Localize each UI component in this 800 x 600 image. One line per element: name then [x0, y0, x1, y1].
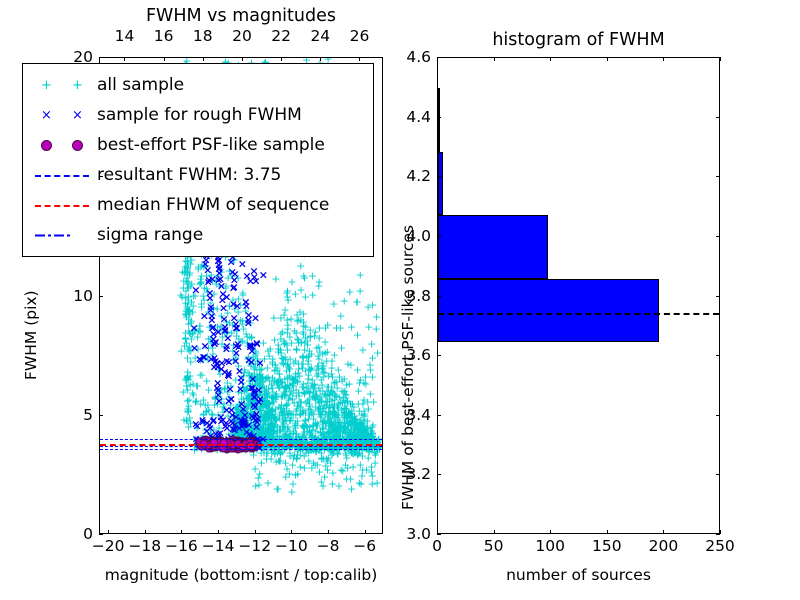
all-sample-marker: + [251, 463, 260, 474]
all-sample-marker: + [194, 326, 203, 337]
all-sample-marker: + [248, 390, 257, 401]
all-sample-marker: + [336, 397, 345, 408]
all-sample-marker: + [182, 338, 191, 349]
all-sample-marker: + [288, 378, 297, 389]
all-sample-marker: + [298, 408, 307, 419]
all-sample-marker: + [358, 422, 367, 433]
all-sample-marker: + [276, 406, 285, 417]
all-sample-marker: + [298, 350, 307, 361]
all-sample-marker: + [346, 398, 355, 409]
all-sample-marker: + [262, 414, 271, 425]
all-sample-marker: + [311, 401, 320, 412]
all-sample-marker: + [283, 372, 292, 383]
all-sample-marker: + [341, 404, 350, 415]
all-sample-marker: + [357, 425, 366, 436]
all-sample-marker: + [321, 322, 330, 333]
all-sample-marker: + [273, 484, 282, 495]
hist-x-tick-label: 200 [649, 537, 679, 555]
all-sample-marker: + [186, 357, 195, 368]
circle-icon [41, 140, 52, 151]
all-sample-marker: + [182, 374, 191, 385]
all-sample-marker: + [279, 358, 288, 369]
all-sample-marker: + [354, 399, 363, 410]
all-sample-marker: + [231, 351, 240, 362]
all-sample-marker: + [195, 326, 204, 337]
all-sample-marker: + [321, 337, 330, 348]
all-sample-marker: + [240, 385, 249, 396]
x-tick-label: −20 [92, 537, 125, 555]
all-sample-marker: + [330, 401, 339, 412]
all-sample-marker: + [211, 392, 220, 403]
all-sample-marker: + [339, 420, 348, 431]
all-sample-marker: + [294, 397, 303, 408]
rough-fwhm-marker: × [246, 339, 255, 350]
rough-fwhm-marker: × [252, 409, 261, 420]
all-sample-marker: + [279, 386, 288, 397]
all-sample-marker: + [363, 423, 372, 434]
all-sample-marker: + [195, 279, 204, 290]
all-sample-marker: + [289, 388, 298, 399]
hist-y-tick-mark-right [716, 236, 720, 237]
all-sample-marker: + [266, 413, 275, 424]
all-sample-marker: + [183, 256, 192, 267]
all-sample-marker: + [252, 364, 261, 375]
legend-item-label: sample for rough FWHM [93, 105, 302, 125]
rough-fwhm-marker: × [229, 298, 238, 309]
rough-fwhm-marker: × [227, 415, 236, 426]
all-sample-marker: + [249, 450, 258, 461]
all-sample-marker: + [259, 431, 268, 442]
all-sample-marker: + [368, 470, 377, 481]
all-sample-marker: + [306, 405, 315, 416]
all-sample-marker: + [280, 383, 289, 394]
all-sample-marker: + [349, 419, 358, 430]
all-sample-marker: + [290, 421, 299, 432]
all-sample-marker: + [324, 370, 333, 381]
all-sample-marker: + [247, 394, 256, 405]
all-sample-marker: + [281, 401, 290, 412]
all-sample-marker: + [368, 431, 377, 442]
all-sample-marker: + [275, 456, 284, 467]
all-sample-marker: + [334, 409, 343, 420]
rough-fwhm-marker: × [250, 386, 259, 397]
all-sample-marker: + [352, 431, 361, 442]
all-sample-marker: + [291, 422, 300, 433]
x-tick-label: −6 [353, 537, 376, 555]
all-sample-marker: + [261, 373, 270, 384]
all-sample-marker: + [326, 386, 335, 397]
all-sample-marker: + [339, 423, 348, 434]
all-sample-marker: + [203, 350, 212, 361]
left-panel-title: FWHM vs magnitudes [99, 6, 383, 26]
rough-fwhm-marker: × [219, 313, 228, 324]
all-sample-marker: + [253, 413, 262, 424]
rough-fwhm-marker: × [226, 431, 235, 442]
all-sample-marker: + [310, 330, 319, 341]
all-sample-marker: + [194, 262, 203, 273]
all-sample-marker: + [339, 407, 348, 418]
all-sample-marker: + [256, 422, 265, 433]
x-tick-label: −12 [238, 537, 271, 555]
rough-fwhm-marker: × [240, 419, 249, 430]
all-sample-marker: + [252, 382, 261, 393]
all-sample-marker: + [216, 388, 225, 399]
all-sample-marker: + [293, 469, 302, 480]
all-sample-marker: + [228, 295, 237, 306]
all-sample-marker: + [301, 291, 310, 302]
all-sample-marker: + [368, 478, 377, 489]
all-sample-marker: + [300, 463, 309, 474]
all-sample-marker: + [282, 384, 291, 395]
rough-fwhm-marker: × [213, 378, 222, 389]
all-sample-marker: + [273, 377, 282, 388]
all-sample-marker: + [232, 421, 241, 432]
all-sample-marker: + [350, 419, 359, 430]
all-sample-marker: + [247, 370, 256, 381]
x-tick-label-top: 20 [232, 27, 252, 45]
rough-fwhm-marker: × [230, 269, 239, 280]
all-sample-marker: + [360, 424, 369, 435]
all-sample-marker: + [325, 421, 334, 432]
all-sample-marker: + [291, 419, 300, 430]
all-sample-marker: + [184, 306, 193, 317]
all-sample-marker: + [252, 388, 261, 399]
all-sample-marker: + [367, 461, 376, 472]
all-sample-marker: + [240, 420, 249, 431]
all-sample-marker: + [266, 432, 275, 443]
rough-fwhm-marker: × [230, 419, 239, 430]
all-sample-marker: + [324, 452, 333, 463]
all-sample-marker: + [340, 397, 349, 408]
rough-fwhm-marker: × [217, 357, 226, 368]
all-sample-marker: + [265, 398, 274, 409]
all-sample-marker: + [230, 432, 239, 443]
dashed-line-icon [35, 205, 89, 207]
all-sample-marker: + [236, 412, 245, 423]
histogram-bar [438, 215, 548, 279]
all-sample-marker: + [243, 404, 252, 415]
all-sample-marker: + [257, 388, 266, 399]
all-sample-marker: + [293, 415, 302, 426]
all-sample-marker: + [312, 343, 321, 354]
all-sample-marker: + [259, 428, 268, 439]
all-sample-marker: + [256, 369, 265, 380]
all-sample-marker: + [183, 385, 192, 396]
all-sample-marker: + [296, 409, 305, 420]
rough-fwhm-marker: × [199, 351, 208, 362]
all-sample-marker: + [186, 329, 195, 340]
all-sample-marker: + [237, 422, 246, 433]
all-sample-marker: + [351, 418, 360, 429]
rough-fwhm-marker: × [211, 355, 220, 366]
all-sample-marker: + [238, 428, 247, 439]
all-sample-marker: + [274, 445, 283, 456]
all-sample-marker: + [257, 427, 266, 438]
all-sample-marker: + [259, 380, 268, 391]
all-sample-marker: + [270, 334, 279, 345]
all-sample-marker: + [223, 377, 232, 388]
all-sample-marker: + [328, 389, 337, 400]
all-sample-marker: + [191, 324, 200, 335]
rough-fwhm-marker: × [242, 270, 251, 281]
rough-fwhm-marker: × [237, 399, 246, 410]
all-sample-marker: + [305, 387, 314, 398]
all-sample-marker: + [236, 423, 245, 434]
all-sample-marker: + [299, 381, 308, 392]
all-sample-marker: + [321, 409, 330, 420]
all-sample-marker: + [306, 332, 315, 343]
all-sample-marker: + [199, 291, 208, 302]
all-sample-marker: + [179, 387, 188, 398]
all-sample-marker: + [317, 452, 326, 463]
all-sample-marker: + [361, 427, 370, 438]
all-sample-marker: + [311, 418, 320, 429]
rough-fwhm-marker: × [235, 366, 244, 377]
rough-fwhm-marker: × [239, 403, 248, 414]
all-sample-marker: + [290, 450, 299, 461]
all-sample-marker: + [249, 410, 258, 421]
all-sample-marker: + [364, 404, 373, 415]
all-sample-marker: + [237, 423, 246, 434]
all-sample-marker: + [319, 453, 328, 464]
all-sample-marker: + [249, 419, 258, 430]
all-sample-marker: + [355, 478, 364, 489]
dashed-line-icon [35, 175, 89, 177]
all-sample-marker: + [257, 381, 266, 392]
all-sample-marker: + [351, 413, 360, 424]
all-sample-marker: + [348, 410, 357, 421]
all-sample-marker: + [309, 382, 318, 393]
all-sample-marker: + [330, 431, 339, 442]
all-sample-marker: + [324, 388, 333, 399]
x-tick-label-top: 24 [310, 27, 330, 45]
all-sample-marker: + [316, 403, 325, 414]
all-sample-marker: + [257, 399, 266, 410]
hist-y-tick-mark-right [716, 296, 720, 297]
hist-x-tick-mark-top [550, 57, 551, 61]
all-sample-marker: + [340, 401, 349, 412]
all-sample-marker: + [231, 422, 240, 433]
all-sample-marker: + [351, 432, 360, 443]
all-sample-marker: + [350, 415, 359, 426]
all-sample-marker: + [213, 322, 222, 333]
all-sample-marker: + [277, 432, 286, 443]
all-sample-marker: + [225, 301, 234, 312]
all-sample-marker: + [340, 402, 349, 413]
x-tick-mark [218, 530, 219, 534]
x-tick-mark [328, 530, 329, 534]
all-sample-marker: + [239, 370, 248, 381]
all-sample-marker: + [197, 369, 206, 380]
all-sample-marker: + [277, 357, 286, 368]
rough-fwhm-marker: × [218, 288, 227, 299]
all-sample-marker: + [279, 403, 288, 414]
all-sample-marker: + [287, 337, 296, 348]
all-sample-marker: + [183, 305, 192, 316]
all-sample-marker: + [264, 418, 273, 429]
dash-segment [48, 234, 51, 236]
all-sample-marker: + [234, 407, 243, 418]
all-sample-marker: + [316, 406, 325, 417]
rough-fwhm-marker: × [220, 366, 229, 377]
all-sample-marker: + [318, 348, 327, 359]
all-sample-marker: + [299, 378, 308, 389]
all-sample-marker: + [245, 391, 254, 402]
all-sample-marker: + [262, 372, 271, 383]
all-sample-marker: + [335, 421, 344, 432]
all-sample-marker: + [269, 411, 278, 422]
all-sample-marker: + [252, 414, 261, 425]
all-sample-marker: + [328, 478, 337, 489]
x-tick-mark-top [203, 57, 204, 61]
all-sample-marker: + [291, 369, 300, 380]
all-sample-marker: + [264, 427, 273, 438]
all-sample-marker: + [288, 409, 297, 420]
all-sample-marker: + [325, 416, 334, 427]
all-sample-marker: + [347, 483, 356, 494]
all-sample-marker: + [267, 392, 276, 403]
all-sample-marker: + [285, 353, 294, 364]
all-sample-marker: + [249, 383, 258, 394]
all-sample-marker: + [222, 328, 231, 339]
all-sample-marker: + [267, 426, 276, 437]
all-sample-marker: + [229, 339, 238, 350]
all-sample-marker: + [258, 376, 267, 387]
rough-fwhm-marker: × [209, 414, 218, 425]
rough-fwhm-marker: × [216, 274, 225, 285]
all-sample-marker: + [270, 449, 279, 460]
all-sample-marker: + [244, 351, 253, 362]
rough-fwhm-marker: × [242, 301, 251, 312]
all-sample-marker: + [357, 426, 366, 437]
all-sample-marker: + [360, 419, 369, 430]
all-sample-marker: + [293, 446, 302, 457]
all-sample-marker: + [309, 458, 318, 469]
all-sample-marker: + [279, 419, 288, 430]
all-sample-marker: + [345, 415, 354, 426]
rough-fwhm-marker: × [212, 382, 221, 393]
all-sample-marker: + [279, 410, 288, 421]
all-sample-marker: + [308, 391, 317, 402]
all-sample-marker: + [235, 432, 244, 443]
all-sample-marker: + [236, 416, 245, 427]
all-sample-marker: + [313, 393, 322, 404]
all-sample-marker: + [184, 259, 193, 270]
all-sample-marker: + [343, 428, 352, 439]
resultant-fwhm-line [100, 446, 382, 447]
all-sample-marker: + [364, 302, 373, 313]
all-sample-marker: + [362, 428, 371, 439]
right-panel-y-axis-label: FWHM of best-effort PSF-like sources [399, 225, 417, 510]
all-sample-marker: + [341, 422, 350, 433]
all-sample-marker: + [284, 394, 293, 405]
all-sample-marker: + [360, 406, 369, 417]
rough-fwhm-marker: × [209, 362, 218, 373]
all-sample-marker: + [357, 422, 366, 433]
all-sample-marker: + [362, 464, 371, 475]
all-sample-marker: + [247, 390, 256, 401]
rough-fwhm-marker: × [240, 417, 249, 428]
all-sample-marker: + [314, 277, 323, 288]
all-sample-marker: + [355, 428, 364, 439]
all-sample-marker: + [298, 431, 307, 442]
all-sample-marker: + [283, 344, 292, 355]
all-sample-marker: + [358, 464, 367, 475]
all-sample-marker: + [353, 428, 362, 439]
all-sample-marker: + [332, 400, 341, 411]
all-sample-marker: + [251, 348, 260, 359]
x-tick-label-top: 22 [271, 27, 291, 45]
all-sample-marker: + [341, 409, 350, 420]
all-sample-marker: + [278, 376, 287, 387]
all-sample-marker: + [244, 418, 253, 429]
all-sample-marker: + [230, 425, 239, 436]
all-sample-marker: + [292, 453, 301, 464]
all-sample-marker: + [184, 292, 193, 303]
all-sample-marker: + [185, 305, 194, 316]
all-sample-marker: + [350, 441, 359, 452]
all-sample-marker: + [264, 426, 273, 437]
all-sample-marker: + [373, 347, 382, 358]
all-sample-marker: + [247, 397, 256, 408]
sigma-range-lower-line [100, 449, 382, 450]
all-sample-marker: + [313, 360, 322, 371]
all-sample-marker: + [349, 445, 358, 456]
all-sample-marker: + [259, 427, 268, 438]
all-sample-marker: + [182, 303, 191, 314]
rough-fwhm-marker: × [259, 270, 268, 281]
all-sample-marker: + [372, 311, 381, 322]
all-sample-marker: + [334, 424, 343, 435]
all-sample-marker: + [182, 263, 191, 274]
histogram-bar [438, 88, 440, 152]
hist-y-tick-label: 4.4 [387, 108, 431, 126]
all-sample-marker: + [241, 417, 250, 428]
all-sample-marker: + [263, 432, 272, 443]
all-sample-marker: + [299, 405, 308, 416]
all-sample-marker: + [333, 382, 342, 393]
all-sample-marker: + [318, 432, 327, 443]
all-sample-marker: + [216, 264, 225, 275]
all-sample-marker: + [248, 388, 257, 399]
x-tick-label: −18 [128, 537, 161, 555]
all-sample-marker: + [324, 426, 333, 437]
all-sample-marker: + [345, 427, 354, 438]
right-panel-axes [437, 57, 720, 534]
rough-fwhm-marker: × [222, 341, 231, 352]
all-sample-marker: + [245, 421, 254, 432]
all-sample-marker: + [265, 431, 274, 442]
all-sample-marker: + [319, 423, 328, 434]
all-sample-marker: + [241, 328, 250, 339]
all-sample-marker: + [186, 418, 195, 429]
all-sample-marker: + [307, 463, 316, 474]
all-sample-marker: + [241, 412, 250, 423]
all-sample-marker: + [294, 431, 303, 442]
all-sample-marker: + [346, 428, 355, 439]
rough-fwhm-marker: × [224, 367, 233, 378]
all-sample-marker: + [233, 272, 242, 283]
rough-fwhm-marker: × [246, 431, 255, 442]
rough-fwhm-marker: × [247, 341, 256, 352]
all-sample-marker: + [283, 422, 292, 433]
all-sample-marker: + [267, 429, 276, 440]
all-sample-marker: + [262, 383, 271, 394]
all-sample-marker: + [292, 328, 301, 339]
all-sample-marker: + [186, 318, 195, 329]
all-sample-marker: + [255, 370, 264, 381]
all-sample-marker: + [367, 432, 376, 443]
